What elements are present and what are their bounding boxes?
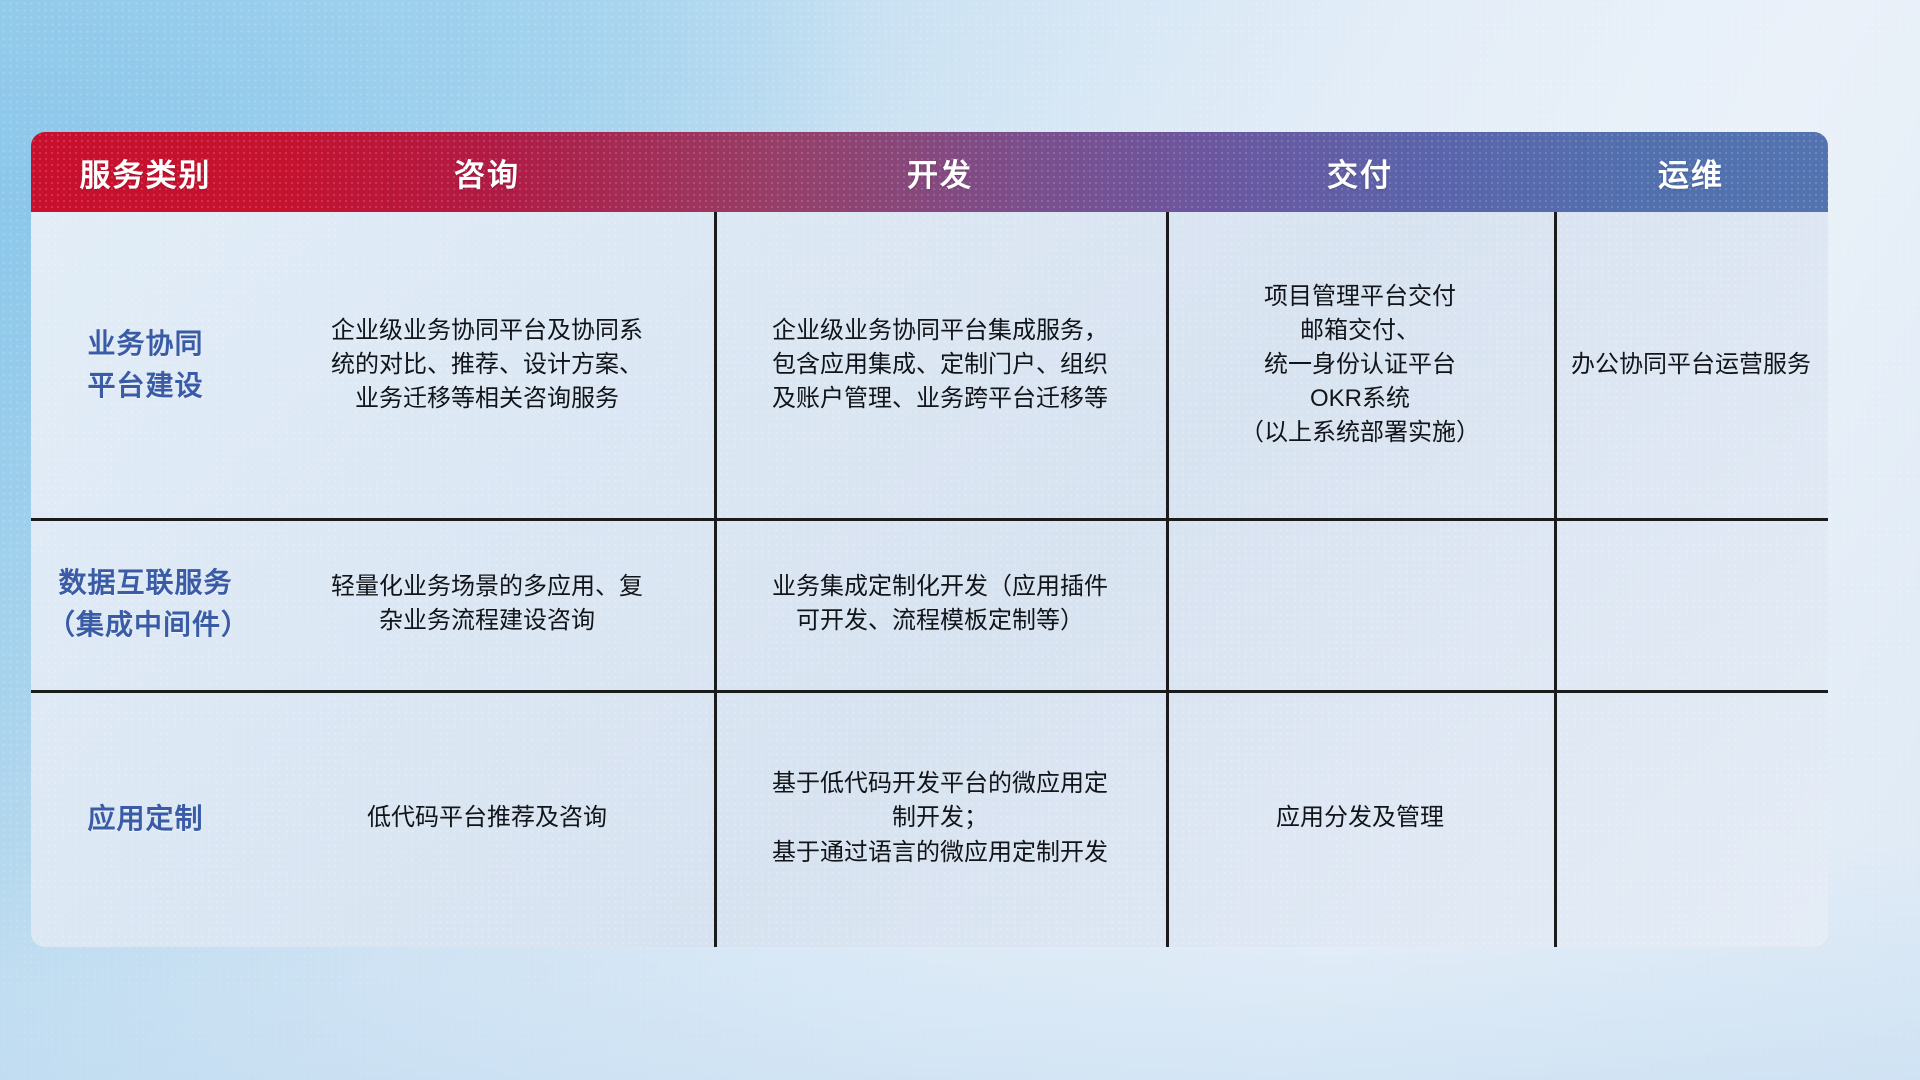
cell-r3-consulting: 低代码平台推荐及咨询 <box>260 690 714 947</box>
cell-r2-consulting: 轻量化业务场景的多应用、复 杂业务流程建设咨询 <box>260 518 714 690</box>
cell-r1-consulting: 企业级业务协同平台及协同系 统的对比、推荐、设计方案、 业务迁移等相关咨询服务 <box>260 212 714 518</box>
row-divider-2 <box>31 690 1828 693</box>
cell-r2-development: 业务集成定制化开发（应用插件 可开发、流程模板定制等） <box>714 518 1166 690</box>
row-label-data-interconnection: 数据互联服务 （集成中间件） <box>31 518 260 690</box>
table-row: 业务协同 平台建设 企业级业务协同平台及协同系 统的对比、推荐、设计方案、 业务… <box>31 212 1828 518</box>
cell-r1-delivery: 项目管理平台交付 邮箱交付、 统一身份认证平台 OKR系统 （以上系统部署实施） <box>1166 212 1554 518</box>
cell-r1-operations: 办公协同平台运营服务 <box>1554 212 1828 518</box>
cell-r3-development: 基于低代码开发平台的微应用定 制开发； 基于通过语言的微应用定制开发 <box>714 690 1166 947</box>
column-header-delivery: 交付 <box>1166 150 1554 195</box>
column-header-development: 开发 <box>714 150 1166 195</box>
column-header-consulting: 咨询 <box>260 150 714 195</box>
column-divider-3 <box>1554 212 1557 947</box>
column-header-operations: 运维 <box>1554 150 1828 195</box>
table-row: 数据互联服务 （集成中间件） 轻量化业务场景的多应用、复 杂业务流程建设咨询 业… <box>31 518 1828 690</box>
table-header-row: 服务类别 咨询 开发 交付 运维 <box>31 132 1828 212</box>
column-divider-1 <box>714 212 717 947</box>
cell-r3-delivery: 应用分发及管理 <box>1166 690 1554 947</box>
table-body: 业务协同 平台建设 企业级业务协同平台及协同系 统的对比、推荐、设计方案、 业务… <box>31 212 1828 947</box>
row-label-business-collaboration: 业务协同 平台建设 <box>31 212 260 518</box>
row-label-application-customization: 应用定制 <box>31 690 260 947</box>
cell-r3-operations <box>1554 690 1828 947</box>
cell-r2-operations <box>1554 518 1828 690</box>
cell-r1-development: 企业级业务协同平台集成服务， 包含应用集成、定制门户、组织 及账户管理、业务跨平… <box>714 212 1166 518</box>
column-header-service-category: 服务类别 <box>31 150 260 195</box>
services-matrix-table: 服务类别 咨询 开发 交付 运维 业务协同 平台建设 企业级业务协同平台及协同系… <box>31 132 1828 947</box>
column-divider-2 <box>1166 212 1169 947</box>
cell-r2-delivery <box>1166 518 1554 690</box>
table-row: 应用定制 低代码平台推荐及咨询 基于低代码开发平台的微应用定 制开发； 基于通过… <box>31 690 1828 947</box>
row-divider-1 <box>31 518 1828 521</box>
